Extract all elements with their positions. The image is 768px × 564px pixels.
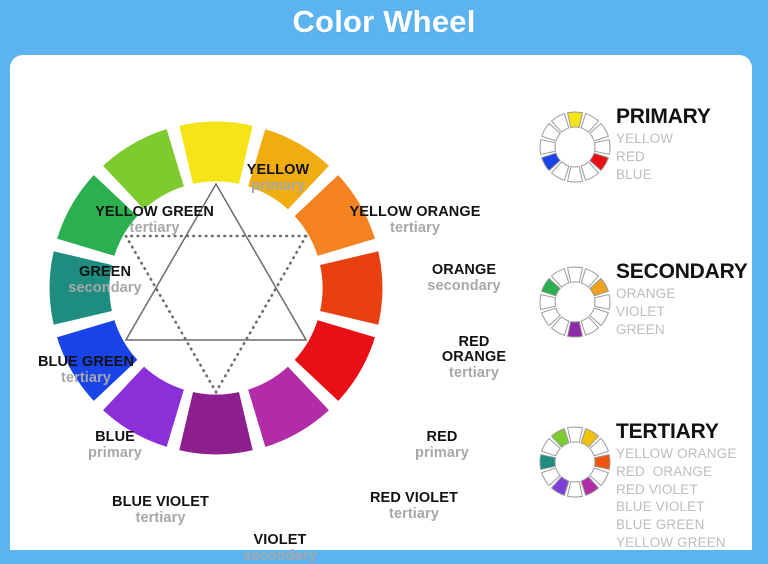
legend-panel: PRIMARYYELLOWREDBLUESECONDARYORANGEVIOLE… xyxy=(530,55,752,550)
page-title: Color Wheel xyxy=(0,4,768,40)
legend-group-title: PRIMARY xyxy=(616,106,756,128)
wheel-label-name: YELLOW xyxy=(208,163,348,178)
legend-mini-segment xyxy=(568,167,583,182)
wheel-label-category: primary xyxy=(208,179,348,194)
wheel-label-name: BLUE xyxy=(60,430,170,445)
wheel-label-name-line2: ORANGE xyxy=(424,350,524,365)
wheel-label-name: YELLOW GREEN xyxy=(72,205,237,220)
wheel-label-category: tertiary xyxy=(330,221,500,236)
wheel-label-blue: BLUEprimary xyxy=(60,430,170,461)
wheel-label-name: YELLOW ORANGE xyxy=(330,205,500,220)
wheel-label-category: tertiary xyxy=(88,511,233,526)
legend-mini-segment xyxy=(568,482,583,497)
legend-item-list: ORANGEVIOLETGREEN xyxy=(616,285,756,338)
wheel-label-red: REDprimary xyxy=(392,430,492,461)
legend-item: YELLOW xyxy=(616,130,756,148)
wheel-label-name: VIOLET xyxy=(220,533,340,548)
legend-mini-wheel-primary xyxy=(538,110,612,184)
wheel-label-yellow_green: YELLOW GREENtertiary xyxy=(72,205,237,236)
wheel-label-name: RED xyxy=(392,430,492,445)
legend-mini-segment xyxy=(595,295,610,310)
wheel-segment-red-orange[interactable] xyxy=(318,249,384,326)
legend-mini-segment xyxy=(568,427,583,442)
wheel-label-yellow_orange: YELLOW ORANGEtertiary xyxy=(330,205,500,236)
wheel-label-category: secondary xyxy=(404,279,524,294)
wheel-label-violet: VIOLETsecondary xyxy=(220,533,340,564)
legend-item: RED VIOLET xyxy=(616,481,756,499)
legend-mini-segment xyxy=(568,267,583,282)
wheel-label-category: secondary xyxy=(220,549,340,564)
wheel-label-red_violet: RED VIOLETtertiary xyxy=(344,491,484,522)
legend-mini-segment xyxy=(595,455,610,470)
legend-item: YELLOW ORANGE xyxy=(616,445,756,463)
legend-item: BLUE GREEN xyxy=(616,516,756,534)
wheel-segment-violet[interactable] xyxy=(177,390,254,456)
wheel-label-orange: ORANGEsecondary xyxy=(404,263,524,294)
wheel-label-name: ORANGE xyxy=(404,263,524,278)
legend-item: BLUE VIOLET xyxy=(616,498,756,516)
wheel-label-category: tertiary xyxy=(72,221,237,236)
legend-item: ORANGE xyxy=(616,285,756,303)
legend-mini-segment xyxy=(568,112,583,127)
legend-mini-segment xyxy=(540,455,555,470)
wheel-label-category: primary xyxy=(60,446,170,461)
color-wheel-area: YELLOWprimaryYELLOW ORANGEtertiaryORANGE… xyxy=(10,55,530,550)
legend-item: GREEN xyxy=(616,321,756,339)
wheel-label-blue_violet: BLUE VIOLETtertiary xyxy=(88,495,233,526)
legend-item: BLUE xyxy=(616,166,756,184)
content-card: YELLOWprimaryYELLOW ORANGEtertiaryORANGE… xyxy=(10,55,752,550)
legend-group-title: SECONDARY xyxy=(616,261,756,283)
legend-mini-segment xyxy=(568,322,583,337)
wheel-label-blue_green: BLUE GREENtertiary xyxy=(16,355,156,386)
legend-mini-segment xyxy=(595,140,610,155)
legend-mini-segment xyxy=(540,140,555,155)
wheel-label-category: secondary xyxy=(40,281,170,296)
wheel-label-name: BLUE VIOLET xyxy=(88,495,233,510)
wheel-label-yellow: YELLOWprimary xyxy=(208,163,348,194)
legend-mini-wheel-tertiary xyxy=(538,425,612,499)
wheel-label-category: tertiary xyxy=(344,507,484,522)
wheel-label-name: RED VIOLET xyxy=(344,491,484,506)
wheel-label-category: tertiary xyxy=(16,371,156,386)
wheel-label-name: RED xyxy=(424,335,524,350)
wheel-label-green: GREENsecondary xyxy=(40,265,170,296)
wheel-label-name: GREEN xyxy=(40,265,170,280)
legend-mini-wheel-secondary xyxy=(538,265,612,339)
legend-mini-segment xyxy=(540,295,555,310)
wheel-label-red_orange: REDORANGEtertiary xyxy=(424,335,524,380)
legend-group-title: TERTIARY xyxy=(616,421,756,443)
wheel-label-name: BLUE GREEN xyxy=(16,355,156,370)
legend-item-list: YELLOWREDBLUE xyxy=(616,130,756,183)
wheel-label-category: tertiary xyxy=(424,366,524,381)
legend-item: RED ORANGE xyxy=(616,463,756,481)
wheel-label-category: primary xyxy=(392,446,492,461)
legend-item: YELLOW GREEN xyxy=(616,534,756,552)
legend-item: VIOLET xyxy=(616,303,756,321)
legend-item: RED xyxy=(616,148,756,166)
legend-item-list: YELLOW ORANGERED ORANGERED VIOLETBLUE VI… xyxy=(616,445,756,552)
